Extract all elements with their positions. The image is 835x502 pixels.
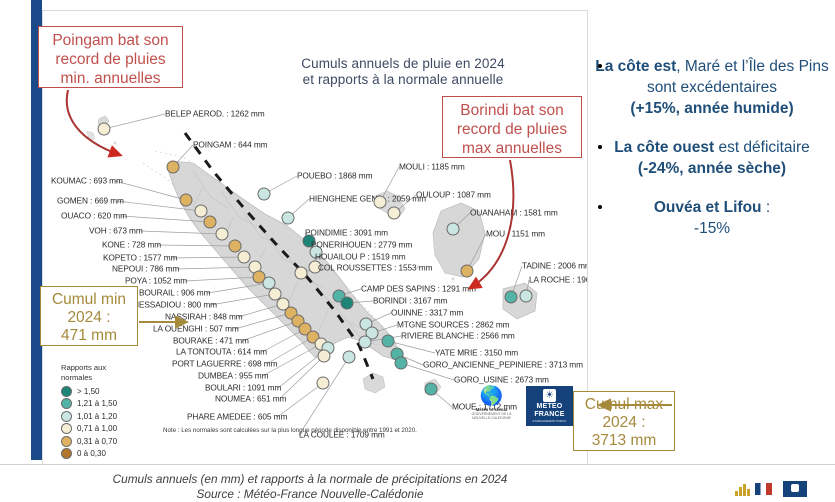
station-label: LA ROCHE : 1968 mm — [529, 276, 588, 285]
callout-borindi: Borindi bat son record de pluies max ann… — [442, 96, 582, 158]
station-label: POINDIMIE : 3091 mm — [305, 229, 388, 238]
legend-title: Rapports aux normales — [61, 363, 131, 382]
legend-row: 0 à 0,30 — [61, 448, 131, 461]
station-marker — [180, 194, 193, 207]
station-label: MTGNE SOURCES : 2862 mm — [397, 321, 510, 330]
station-marker — [395, 357, 408, 370]
footer-caption: Cumuls annuels (en mm) et rapports à la … — [0, 472, 620, 502]
callout-borindi-line3: max annuelles — [443, 139, 581, 158]
station-label: YATE MRIE : 3150 mm — [435, 349, 518, 358]
station-label: LA OUENGHI : 507 mm — [153, 325, 239, 334]
bullet-cote-ouest-bold: La côte ouest — [614, 139, 714, 156]
station-marker — [216, 228, 229, 241]
legend: Rapports aux normales > 1,501,21 à 1,501… — [61, 363, 131, 460]
legend-label: 1,21 à 1,50 — [77, 399, 117, 409]
legend-swatch-icon — [61, 448, 72, 459]
bullet-cote-est-bold: La côte est — [595, 58, 676, 75]
meteo-france-small-logo — [783, 481, 807, 497]
station-label: NOUMEA : 651 mm — [215, 395, 286, 404]
bullet-cote-ouest-emphasis: (-24%, année sèche) — [638, 160, 786, 177]
station-marker — [258, 188, 271, 201]
meteo-france-logo: ☀ METEO FRANCE ETABLISSEMENT PUBLIC — [526, 386, 573, 426]
legend-swatch-icon — [61, 423, 72, 434]
callout-cumul-min-line2: 2024 : — [41, 309, 137, 327]
map-title: Cumuls annuels de pluie en 2024 et rappo… — [258, 56, 548, 88]
station-label: NEPOUI : 786 mm — [112, 265, 179, 274]
station-label: CAMP DES SAPINS : 1291 mm — [361, 285, 476, 294]
station-label: OUANAHAM : 1581 mm — [470, 209, 558, 218]
callout-cumul-min: Cumul min 2024 : 471 mm — [40, 286, 138, 346]
callout-cumul-max-line2: 2024 : — [574, 414, 674, 432]
footer-caption-line1: Cumuls annuels (en mm) et rapports à la … — [0, 472, 620, 487]
map-title-line2: et rapports à la normale annuelle — [258, 72, 548, 88]
callout-borindi-line1: Borindi bat son — [443, 101, 581, 120]
legend-swatch-icon — [61, 386, 72, 397]
legend-row: > 1,50 — [61, 385, 131, 398]
legend-title-line1: Rapports aux — [61, 363, 131, 373]
gouvernement-nc-logo: 🌎 Météo et climat GOUVERNEMENT DE LA NOU… — [468, 386, 515, 426]
legend-label: 0,31 à 0,70 — [77, 437, 117, 447]
station-marker — [295, 267, 308, 280]
bullet-dot-icon — [598, 64, 602, 68]
station-marker — [238, 251, 251, 264]
station-label: DUMBEA : 955 mm — [198, 372, 268, 381]
callout-cumul-max: Cumul max 2024 : 3713 mm — [573, 391, 675, 451]
station-marker — [98, 123, 111, 136]
legend-row: 1,21 à 1,50 — [61, 398, 131, 411]
station-label: BORINDI : 3167 mm — [373, 297, 447, 306]
legend-row: 0,71 à 1,00 — [61, 423, 131, 436]
globe-icon: 🌎 — [468, 386, 515, 407]
legend-label: 0 à 0,30 — [77, 449, 106, 459]
station-label: MOULI : 1185 mm — [399, 163, 465, 172]
station-marker — [388, 207, 401, 220]
station-marker — [359, 336, 372, 349]
station-marker — [317, 377, 330, 390]
station-label: PORT LAGUERRE : 698 mm — [172, 360, 277, 369]
station-label: POUEBO : 1868 mm — [297, 172, 372, 181]
station-marker — [382, 335, 395, 348]
callout-cumul-min-line1: Cumul min — [41, 291, 137, 309]
legend-row: 0,31 à 0,70 — [61, 435, 131, 448]
right-text-panel: La côte est, Maré et l’Île des Pins sont… — [592, 56, 832, 257]
mf-logo-line3: ETABLISSEMENT PUBLIC — [526, 420, 573, 424]
mf-logo-line1: METEO — [526, 403, 573, 411]
bullet-dot-icon — [598, 145, 602, 149]
station-label: RIVIERE BLANCHE : 2566 mm — [401, 332, 515, 341]
station-label: MOU : 1151 mm — [486, 230, 545, 239]
legend-swatch-icon — [61, 411, 72, 422]
bullet-dot-icon — [598, 205, 602, 209]
legend-title-line2: normales — [61, 373, 131, 383]
station-label: LA TONTOUTA : 614 mm — [176, 348, 267, 357]
legend-label: > 1,50 — [77, 387, 99, 397]
station-marker — [318, 350, 331, 363]
station-label: KOPETO : 1577 mm — [103, 254, 177, 263]
station-marker — [204, 216, 217, 229]
bullet-ouvea-lifou-bold: Ouvéa et Lifou — [654, 199, 762, 216]
station-label: GORO_USINE : 2673 mm — [454, 376, 549, 385]
callout-poingam-line2: record de pluies — [39, 50, 182, 69]
station-label: OUACO : 620 mm — [61, 212, 127, 221]
station-label: COL ROUSSETTES : 1553 mm — [318, 264, 432, 273]
station-label: TADINE : 2006 mm — [522, 262, 588, 271]
station-label: OULOUP : 1087 mm — [416, 191, 491, 200]
callout-poingam-line1: Poingam bat son — [39, 31, 182, 50]
station-label: KONE : 728 mm — [102, 241, 161, 250]
footer-caption-line2: Source : Météo-France Nouvelle-Calédonie — [0, 487, 620, 502]
bullet-cote-ouest: La côte ouest est déficitaire (-24%, ann… — [592, 137, 832, 179]
station-label: BELEP AEROD. : 1262 mm — [165, 110, 265, 119]
station-label: NESSADIOU : 800 mm — [133, 301, 217, 310]
station-label: BOURAIL : 906 mm — [139, 289, 210, 298]
station-marker — [343, 351, 356, 364]
station-marker — [282, 212, 295, 225]
callout-cumul-min-line3: 471 mm — [41, 327, 137, 345]
map-note: Note : Les normales sont calculées sur l… — [163, 427, 417, 434]
station-label: PONERIHOUEN : 2779 mm — [311, 241, 412, 250]
bullet-cote-est: La côte est, Maré et l’Île des Pins sont… — [592, 56, 832, 119]
station-label: HOUAILOU P : 1519 mm — [315, 253, 406, 262]
bullet-ouvea-lifou-rest: : — [762, 199, 771, 216]
station-label: KOUMAC : 693 mm — [51, 177, 123, 186]
bullet-cote-est-emphasis: (+15%, année humide) — [630, 100, 793, 117]
station-label: VOH : 673 mm — [89, 227, 143, 236]
legend-swatch-icon — [61, 398, 72, 409]
legend-swatch-icon — [61, 436, 72, 447]
mf-logo-line2: FRANCE — [526, 411, 573, 419]
legend-row: 1,01 à 1,20 — [61, 410, 131, 423]
french-flag-icon — [755, 483, 772, 495]
slide-root: Cumuls annuels de pluie en 2024 et rappo… — [0, 0, 835, 502]
station-label: PHARE AMEDEE : 605 mm — [187, 413, 287, 422]
footer-logos — [735, 480, 835, 502]
station-marker — [505, 291, 518, 304]
callout-poingam: Poingam bat son record de pluies min. an… — [38, 26, 183, 88]
legend-label: 0,71 à 1,00 — [77, 424, 117, 434]
callout-cumul-max-line1: Cumul max — [574, 396, 674, 414]
footer-divider — [0, 464, 835, 465]
legend-label: 1,01 à 1,20 — [77, 412, 117, 422]
callout-cumul-max-line3: 3713 mm — [574, 432, 674, 450]
station-label: BOURAKE : 471 mm — [173, 337, 249, 346]
station-label: POINGAM : 644 mm — [193, 141, 267, 150]
station-marker — [447, 223, 460, 236]
station-marker — [425, 383, 438, 396]
bullet-cote-ouest-rest: est déficitaire — [714, 139, 810, 156]
bullet-ouvea-lifou-emphasis: -15% — [694, 220, 730, 237]
station-marker — [341, 297, 354, 310]
station-label: GORO_ANCIENNE_PEPINIERE : 3713 mm — [423, 361, 583, 370]
callout-borindi-line2: record de pluies — [443, 120, 581, 139]
gouv-logo-line3: NOUVELLE-CALEDONIE — [468, 416, 515, 420]
station-marker — [374, 196, 387, 209]
meteo-france-mark-icon: ☀ — [543, 389, 556, 402]
station-marker — [520, 290, 533, 303]
station-label: POYA : 1052 mm — [125, 277, 187, 286]
station-label: HIENGHENE GEND. : 2059 mm — [309, 195, 426, 204]
station-label: GOMEN : 669 mm — [57, 197, 124, 206]
station-marker — [167, 161, 180, 174]
station-label: NASSIRAH : 848 mm — [165, 313, 243, 322]
map-title-line1: Cumuls annuels de pluie en 2024 — [258, 56, 548, 72]
bullet-ouvea-lifou: Ouvéa et Lifou : -15% — [592, 197, 832, 239]
bar-chart-icon — [735, 482, 751, 496]
station-label: OUINNE : 3317 mm — [391, 309, 463, 318]
callout-poingam-line3: min. annuelles — [39, 69, 182, 88]
station-marker — [461, 265, 474, 278]
station-label: BOULARI : 1091 mm — [205, 384, 281, 393]
